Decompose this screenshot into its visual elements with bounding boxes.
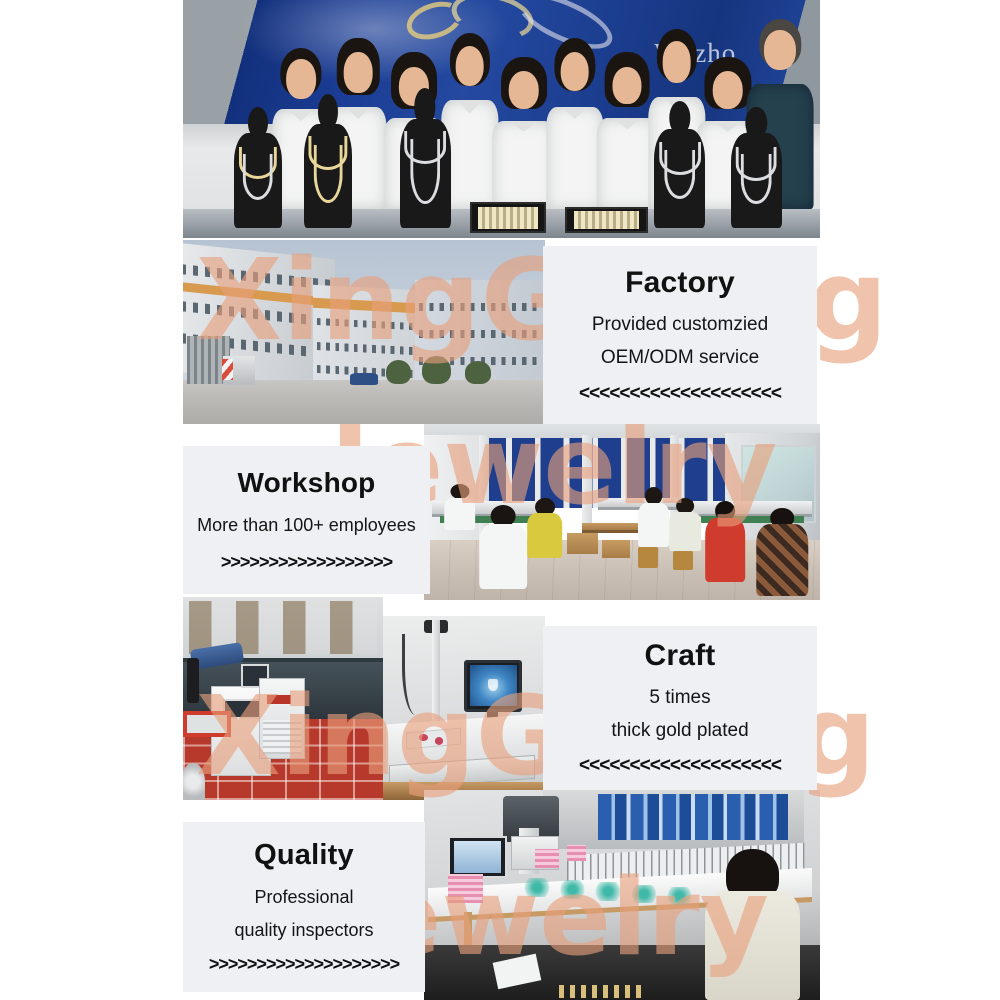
staff-member (546, 38, 603, 209)
panel-workshop: Workshop More than 100+ employees >>>>>>… (183, 446, 430, 594)
workshop-worker (444, 484, 476, 530)
panel-line: 5 times (649, 687, 710, 709)
ring-tray (565, 207, 648, 233)
jewelry-bust (400, 119, 451, 228)
panel-line: Professional (254, 887, 353, 908)
panel-craft: Craft 5 times thick gold plated <<<<<<<<… (543, 626, 817, 790)
parked-truck (223, 356, 256, 385)
panel-line: More than 100+ employees (197, 515, 416, 536)
panel-arrows: >>>>>>>>>>>>>>>>>> (221, 552, 392, 573)
jewelry-bust (654, 129, 705, 229)
panel-title: Workshop (238, 467, 376, 499)
panel-quality: Quality Professional quality inspectors … (183, 822, 425, 992)
factory-photo (183, 240, 545, 424)
water-chiller (259, 678, 305, 759)
qc-photo (424, 790, 820, 1000)
workshop-worker (527, 498, 563, 558)
laser-photo (183, 597, 383, 800)
marking-photo (383, 616, 545, 800)
panel-factory: Factory Provided customzied OEM/ODM serv… (543, 246, 817, 424)
parts-tray (183, 711, 231, 737)
panel-title: Quality (254, 839, 354, 872)
workshop-worker (705, 501, 745, 582)
computer-monitor (464, 660, 522, 712)
panel-line: OEM/ODM service (601, 347, 759, 369)
bracelet-tray (470, 202, 546, 233)
panel-line: quality inspectors (234, 920, 373, 941)
jewelry-bust (234, 133, 282, 228)
quality-inspector (701, 849, 804, 1000)
panel-title: Craft (644, 639, 715, 673)
panel-line: thick gold plated (611, 720, 748, 742)
panel-arrows: <<<<<<<<<<<<<<<<<<<< (579, 383, 781, 405)
workshop-worker (638, 487, 670, 547)
panel-arrows: >>>>>>>>>>>>>>>>>>>> (209, 954, 399, 975)
microscope (187, 658, 199, 703)
product-detail-image: Wuzho (0, 0, 1000, 1000)
workshop-photo (424, 424, 820, 600)
blue-parts-bins (598, 794, 788, 840)
panel-line: Provided customzied (592, 314, 768, 336)
jewelry-bust (304, 124, 352, 229)
control-tablet (448, 836, 507, 878)
panel-arrows: <<<<<<<<<<<<<<<<<<<< (579, 755, 781, 777)
panel-title: Factory (625, 266, 735, 300)
jewelry-bust (731, 133, 782, 228)
team-photo: Wuzho (183, 0, 820, 238)
workshop-worker (670, 498, 702, 551)
floor-fan (183, 763, 205, 800)
workshop-worker (757, 508, 808, 596)
workshop-worker (479, 505, 527, 589)
